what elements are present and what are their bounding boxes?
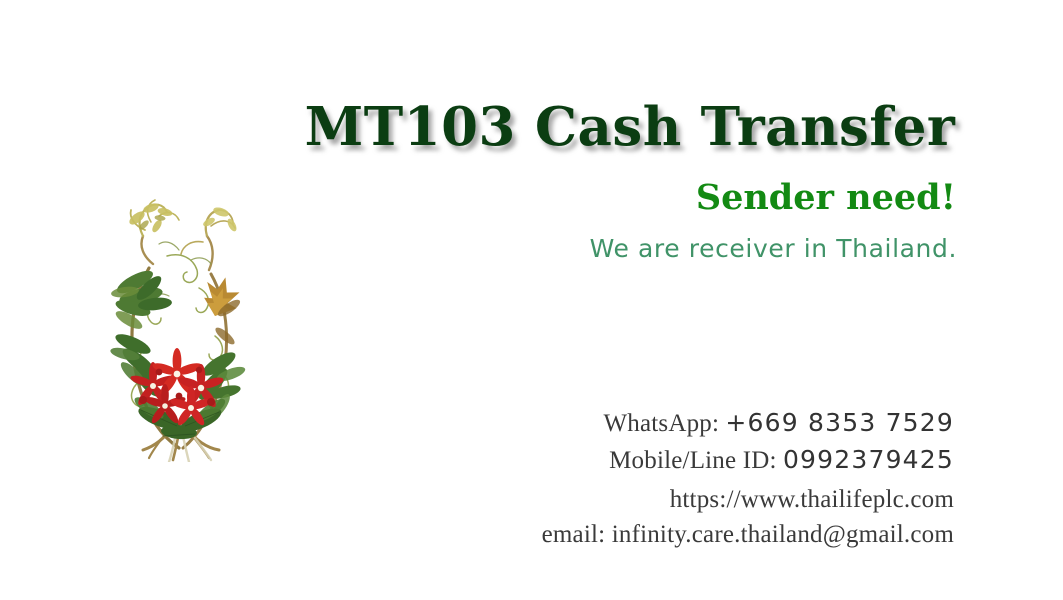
subtitle: Sender need! xyxy=(300,174,960,222)
email-label: email: xyxy=(542,521,606,548)
headline-block: MT103 Cash Transfer Sender need! We are … xyxy=(300,96,960,266)
whatsapp-number[interactable]: +669 8353 7529 xyxy=(725,408,954,437)
whatsapp-label: WhatsApp: xyxy=(603,410,719,437)
mobile-line-id-number[interactable]: 0992379425 xyxy=(783,445,954,474)
tagline: We are receiver in Thailand. xyxy=(300,232,960,266)
contact-email: email: infinity.care.thailand@gmail.com xyxy=(520,518,954,551)
contact-block: WhatsApp: +669 8353 7529 Mobile/Line ID:… xyxy=(520,406,954,551)
contact-website[interactable]: https://www.thailifeplc.com xyxy=(520,483,954,516)
poster-canvas: MT103 Cash Transfer Sender need! We are … xyxy=(0,0,1063,600)
mobile-line-id-label: Mobile/Line ID: xyxy=(609,447,777,474)
contact-whatsapp: WhatsApp: +669 8353 7529 xyxy=(520,406,954,440)
page-title: MT103 Cash Transfer xyxy=(300,96,960,158)
email-address[interactable]: infinity.care.thailand@gmail.com xyxy=(612,521,954,548)
contact-mobile-line-id: Mobile/Line ID: 0992379425 xyxy=(520,443,954,477)
floral-vine-wreath-illustration xyxy=(103,196,255,462)
